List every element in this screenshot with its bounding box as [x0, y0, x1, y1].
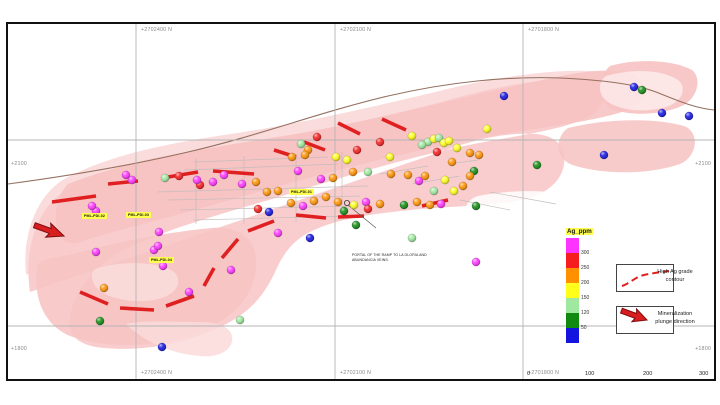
sample-point — [364, 205, 372, 213]
scale-bar-ticks: 0100200300 — [527, 371, 701, 379]
sample-point — [658, 109, 666, 117]
ramp-color-cell — [566, 268, 579, 283]
sample-point — [209, 178, 217, 186]
sample-point — [334, 198, 342, 206]
sample-point — [387, 170, 395, 178]
sample-point — [227, 266, 235, 274]
scale-bar: 0100200300 — [527, 371, 701, 381]
sample-point — [500, 92, 508, 100]
contour-segment — [338, 216, 364, 217]
mineralization-envelope — [25, 61, 697, 356]
sample-point — [376, 138, 384, 146]
sample-point — [301, 151, 309, 159]
ramp-color-cell — [566, 253, 579, 268]
sample-point — [254, 205, 262, 213]
sample-point — [445, 137, 453, 145]
sample-point — [310, 197, 318, 205]
drill-hole-label: PML-PDI-03 — [126, 212, 151, 218]
sample-point — [404, 171, 412, 179]
sample-point — [306, 234, 314, 242]
scale-bar-tick-label: 100 — [585, 371, 594, 377]
sample-point — [600, 151, 608, 159]
sample-point — [155, 228, 163, 236]
grid-coordinate-label: +2702400 N — [141, 370, 172, 376]
sample-point — [413, 198, 421, 206]
sample-point — [274, 187, 282, 195]
sample-point — [350, 201, 358, 209]
sample-point — [274, 229, 282, 237]
sample-point — [263, 188, 271, 196]
sample-point — [100, 284, 108, 292]
scale-bar-tick-label: 0 — [527, 371, 530, 377]
sample-point — [299, 202, 307, 210]
sample-point — [220, 171, 228, 179]
legend-item-line: plunge direction — [638, 319, 712, 327]
sample-point — [161, 174, 169, 182]
grid-coordinate-label: +2702100 N — [340, 27, 371, 33]
portal-annotation: PORTAL OF THE RAMP TO LA GLORIA AND ABUN… — [352, 253, 450, 262]
legend-title: Ag_ppm — [566, 228, 593, 235]
ramp-tick-label: 150 — [581, 296, 589, 301]
grid-coordinate-label: +2100 — [695, 161, 711, 167]
sample-point — [475, 151, 483, 159]
sample-point — [349, 168, 357, 176]
sample-point — [340, 207, 348, 215]
sample-point — [288, 153, 296, 161]
sample-point — [287, 199, 295, 207]
scale-bar-tick-label: 300 — [699, 371, 708, 377]
ag-color-ramp: 30025020015012050 — [566, 238, 579, 343]
sample-point — [238, 180, 246, 188]
legend-contour-label: High Ag gradecontour — [638, 269, 712, 284]
sample-point — [472, 202, 480, 210]
sample-point — [265, 208, 273, 216]
sample-point — [329, 174, 337, 182]
grid-coordinate-label: +1800 — [11, 346, 27, 352]
sample-point — [386, 153, 394, 161]
sample-point — [441, 176, 449, 184]
ramp-color-cell — [566, 328, 579, 343]
sample-point — [533, 161, 541, 169]
sample-point — [433, 148, 441, 156]
grid-coordinate-label: +2702400 N — [141, 27, 172, 33]
sample-point — [364, 168, 372, 176]
sample-point — [353, 146, 361, 154]
sample-point — [459, 182, 467, 190]
sample-point — [630, 83, 638, 91]
sample-point — [159, 262, 167, 270]
legend-plunge-label: Mineralizationplunge direction — [638, 311, 712, 326]
grid-coordinate-label: +2701800 N — [528, 27, 559, 33]
sample-point — [236, 316, 244, 324]
long-section-map: Long Section La Gloria Vein N S — [0, 0, 720, 405]
legend-item-line: Mineralization — [638, 311, 712, 319]
sample-point — [472, 258, 480, 266]
sample-point — [430, 187, 438, 195]
sample-point — [88, 202, 96, 210]
legend: Ag_ppm 30025020015012050 — [566, 220, 593, 343]
legend-item-line: contour — [638, 277, 712, 285]
sample-point — [352, 221, 360, 229]
ramp-color-cell — [566, 283, 579, 298]
sample-point — [297, 140, 305, 148]
sample-point — [185, 288, 193, 296]
sample-point — [450, 187, 458, 195]
sample-point — [92, 248, 100, 256]
ramp-tick-label: 250 — [581, 266, 589, 271]
grid-coordinate-label: +1800 — [695, 346, 711, 352]
sample-point — [483, 125, 491, 133]
sample-point — [332, 153, 340, 161]
sample-point — [448, 158, 456, 166]
sample-point — [415, 177, 423, 185]
drill-hole-label: PML-PDI-04 — [149, 257, 174, 263]
sample-point — [158, 343, 166, 351]
sample-point — [453, 144, 461, 152]
sample-point — [426, 201, 434, 209]
sample-point — [466, 149, 474, 157]
scale-bar-graphic — [527, 379, 701, 381]
sample-point — [175, 172, 183, 180]
sample-point — [313, 133, 321, 141]
sample-point — [122, 171, 130, 179]
sample-point — [294, 167, 302, 175]
sample-point — [343, 156, 351, 164]
sample-point — [317, 175, 325, 183]
ramp-color-cell — [566, 238, 579, 253]
ramp-tick-label: 120 — [581, 311, 589, 316]
legend-item-line: High Ag grade — [638, 269, 712, 277]
sample-point — [437, 200, 445, 208]
sample-point — [400, 201, 408, 209]
sample-point — [96, 317, 104, 325]
sample-point — [193, 176, 201, 184]
sample-point — [154, 242, 162, 250]
grid-coordinate-label: +2100 — [11, 161, 27, 167]
sample-point — [638, 86, 646, 94]
scale-bar-tick-label: 200 — [643, 371, 652, 377]
ramp-tick-label: 300 — [581, 251, 589, 256]
grid-coordinate-label: +2702100 N — [340, 370, 371, 376]
sample-point — [376, 200, 384, 208]
drill-hole-label: PML-PDI-01 — [289, 189, 314, 195]
sample-point — [408, 132, 416, 140]
contour-segment — [120, 308, 154, 310]
ramp-tick-label: 200 — [581, 281, 589, 286]
sample-point — [408, 234, 416, 242]
sample-point — [685, 112, 693, 120]
ramp-tick-label: 50 — [581, 326, 587, 331]
sample-point — [322, 193, 330, 201]
drill-hole-label: PML-PDI-02 — [82, 213, 107, 219]
map-canvas — [8, 24, 714, 379]
sample-point — [466, 172, 474, 180]
sample-point — [418, 141, 426, 149]
ramp-color-cell — [566, 298, 579, 313]
ramp-color-cell — [566, 313, 579, 328]
map-frame: +2702400 N+2702100 N+2701800 N +2702400 … — [6, 22, 716, 381]
sample-point — [252, 178, 260, 186]
